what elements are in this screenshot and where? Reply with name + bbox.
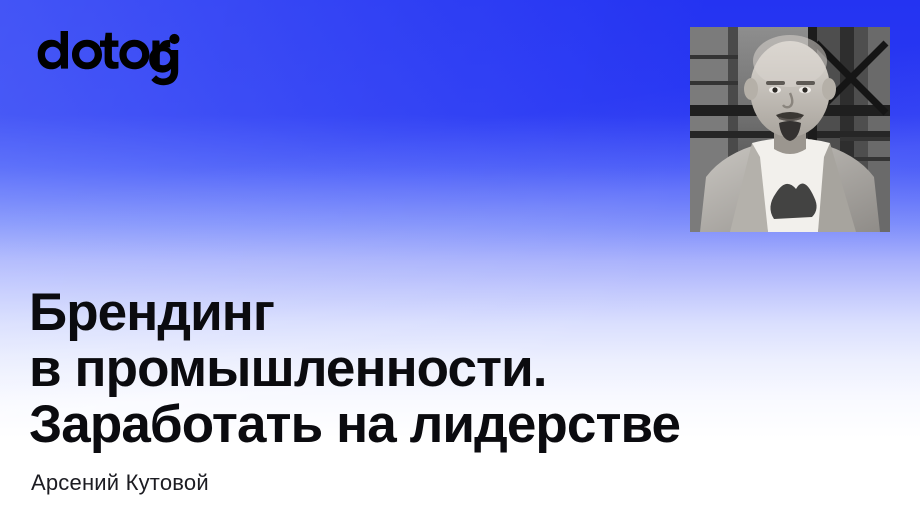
headline-line-3: Заработать на лидерстве (29, 397, 869, 453)
speaker-photo-icon (690, 27, 890, 232)
headline-line-2: в промышленности. (29, 341, 869, 397)
presentation-slide: Брендинг в промышленности. Заработать на… (0, 0, 920, 522)
dotorg-logo[interactable] (32, 26, 182, 94)
speaker-portrait (690, 27, 890, 232)
slide-headline: Брендинг в промышленности. Заработать на… (29, 285, 869, 453)
dotorg-wordmark-icon (32, 26, 182, 94)
speaker-name: Арсений Кутовой (31, 469, 209, 497)
headline-line-1: Брендинг (29, 285, 869, 341)
